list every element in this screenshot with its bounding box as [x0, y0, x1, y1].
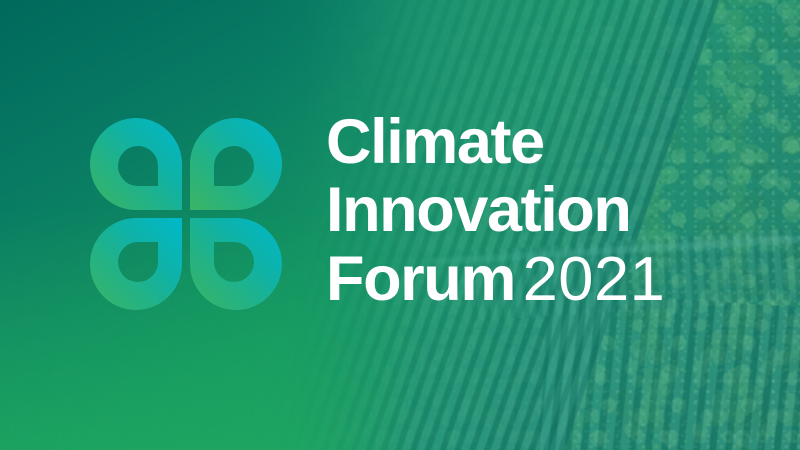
title-word-year: 2021 — [523, 250, 666, 310]
quatrefoil-petal-logo — [88, 116, 284, 312]
title-line-climate: Climate — [326, 112, 756, 172]
petal-shape-bottom-right — [190, 218, 282, 310]
petal-shape-top-left — [90, 118, 182, 210]
title-word-forum: Forum — [326, 249, 515, 309]
title-line-forum-year: Forum 2021 — [326, 249, 756, 310]
event-banner: Climate Innovation Forum 2021 — [0, 0, 800, 450]
wordmark: Climate Innovation Forum 2021 — [326, 112, 756, 309]
petal-shape-top-right — [190, 118, 282, 210]
title-line-innovation: Innovation — [326, 180, 756, 240]
petal-shape-bottom-left — [90, 218, 182, 310]
